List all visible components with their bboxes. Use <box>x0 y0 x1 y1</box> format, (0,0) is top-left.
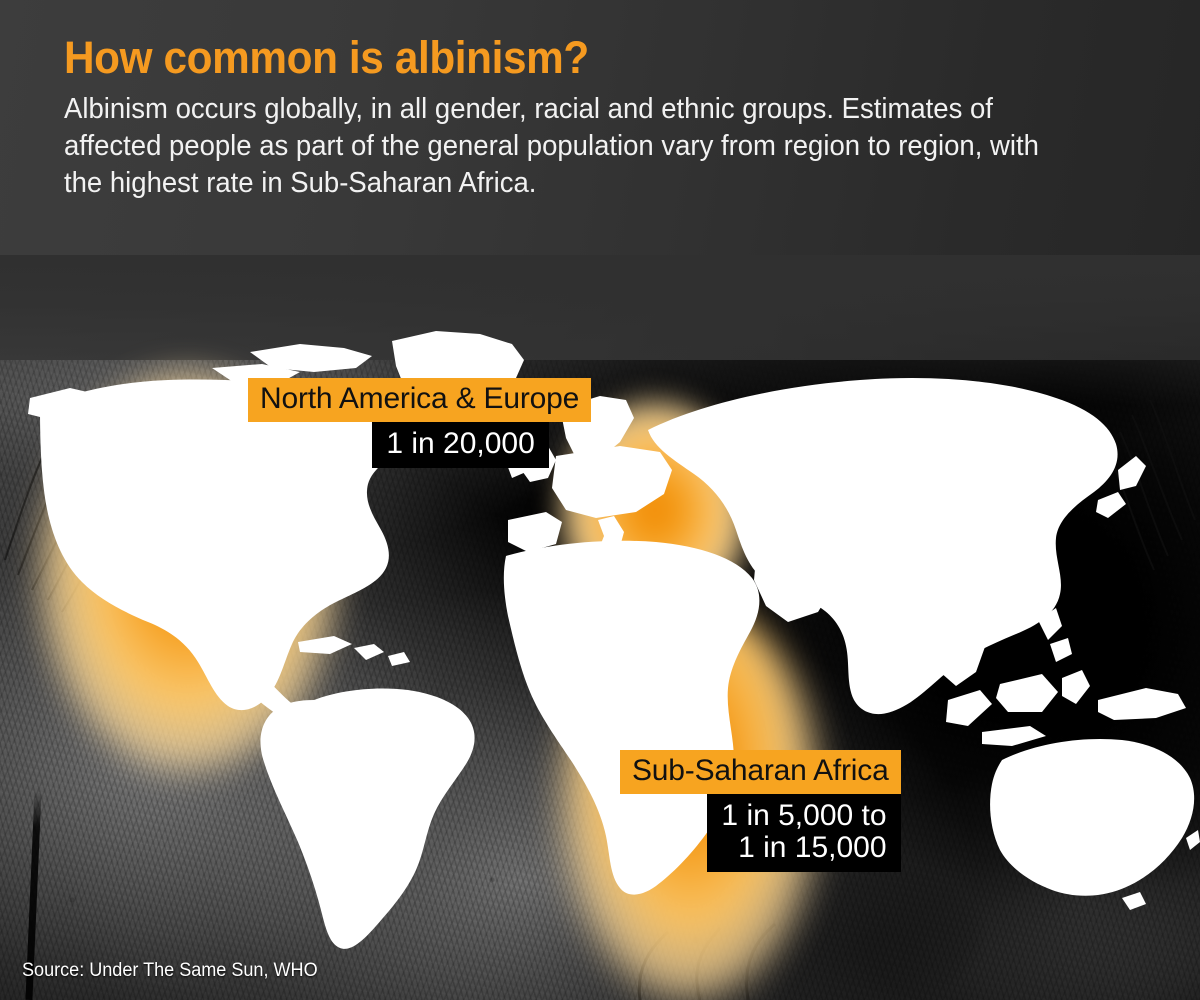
landmass-caribbean-2 <box>354 644 384 660</box>
callout-region-label: North America & Europe <box>248 378 591 422</box>
landmass-caribbean-3 <box>388 652 410 666</box>
landmass-caribbean-1 <box>298 636 352 654</box>
page-subtitle: Albinism occurs globally, in all gender,… <box>64 91 1072 202</box>
landmass-australia <box>990 739 1194 896</box>
title-block: How common is albinism? Albinism occurs … <box>64 34 1134 202</box>
landmass-new-guinea <box>1098 688 1186 720</box>
landmass-new-zealand-1 <box>1186 830 1200 850</box>
callout-north-america-europe[interactable]: North America & Europe 1 in 20,000 <box>248 378 591 468</box>
callout-rate-line-2: 1 in 15,000 <box>721 832 886 864</box>
landmass-philippines-2 <box>1050 638 1072 662</box>
infographic-root: How common is albinism? Albinism occurs … <box>0 0 1200 1000</box>
page-title: How common is albinism? <box>64 34 1070 81</box>
landmass-tasmania <box>1122 892 1146 910</box>
landmass-japan-2 <box>1096 492 1126 518</box>
callout-region-label: Sub-Saharan Africa <box>620 750 901 794</box>
landmass-java <box>982 726 1046 746</box>
landmass-japan-1 <box>1118 456 1146 490</box>
landmass-borneo <box>996 674 1058 712</box>
source-attribution: Source: Under The Same Sun, WHO <box>22 960 318 982</box>
callout-rate-line-1: 1 in 5,000 to <box>721 800 886 832</box>
landmass-sumatra <box>946 690 992 726</box>
landmass-sulawesi <box>1062 670 1090 704</box>
callout-rate-value: 1 in 5,000 to 1 in 15,000 <box>707 794 900 872</box>
landmass-south-america <box>260 688 474 948</box>
callout-rate-value: 1 in 20,000 <box>372 422 548 468</box>
callout-sub-saharan-africa[interactable]: Sub-Saharan Africa 1 in 5,000 to 1 in 15… <box>620 750 901 872</box>
